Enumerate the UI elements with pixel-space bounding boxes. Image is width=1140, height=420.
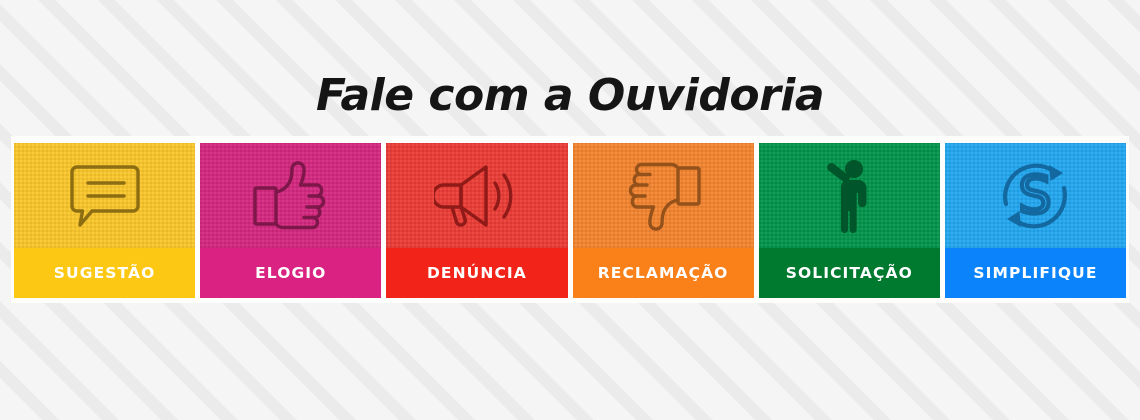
card-elogio[interactable]: ELOGIO <box>200 143 381 298</box>
card-simplifique-label: SIMPLIFIQUE <box>945 248 1126 298</box>
channel-card-strip: SUGESTÃO ELOGIO <box>11 136 1129 303</box>
person-raising-hand-icon <box>818 159 880 233</box>
card-denuncia[interactable]: DENÚNCIA <box>386 143 567 298</box>
thumbs-down-icon <box>624 160 702 232</box>
simplifique-s-cycle-icon: S <box>993 156 1077 236</box>
card-sugestao-icon-area <box>14 143 195 248</box>
thumbs-up-icon <box>252 160 330 232</box>
card-reclamacao-label: RECLAMAÇÃO <box>573 248 754 298</box>
card-simplifique-icon-area: S <box>945 143 1126 248</box>
card-solicitacao-label: SOLICITAÇÃO <box>759 248 940 298</box>
megaphone-icon <box>434 161 520 231</box>
card-solicitacao-icon-area <box>759 143 940 248</box>
card-elogio-icon-area <box>200 143 381 248</box>
speech-bubble-icon <box>69 163 141 229</box>
channel-card-list: SUGESTÃO ELOGIO <box>14 143 1126 298</box>
card-denuncia-label: DENÚNCIA <box>386 248 567 298</box>
card-denuncia-icon-area <box>386 143 567 248</box>
card-sugestao[interactable]: SUGESTÃO <box>14 143 195 298</box>
svg-text:S: S <box>1019 166 1052 226</box>
card-reclamacao[interactable]: RECLAMAÇÃO <box>573 143 754 298</box>
card-simplifique[interactable]: S SIMPLIFIQUE <box>945 143 1126 298</box>
card-reclamacao-icon-area <box>573 143 754 248</box>
card-sugestao-label: SUGESTÃO <box>14 248 195 298</box>
card-elogio-label: ELOGIO <box>200 248 381 298</box>
card-solicitacao[interactable]: SOLICITAÇÃO <box>759 143 940 298</box>
ouvidoria-banner: Fale com a Ouvidoria SUGESTÃO <box>0 0 1140 420</box>
page-title: Fale com a Ouvidoria <box>0 74 1140 118</box>
